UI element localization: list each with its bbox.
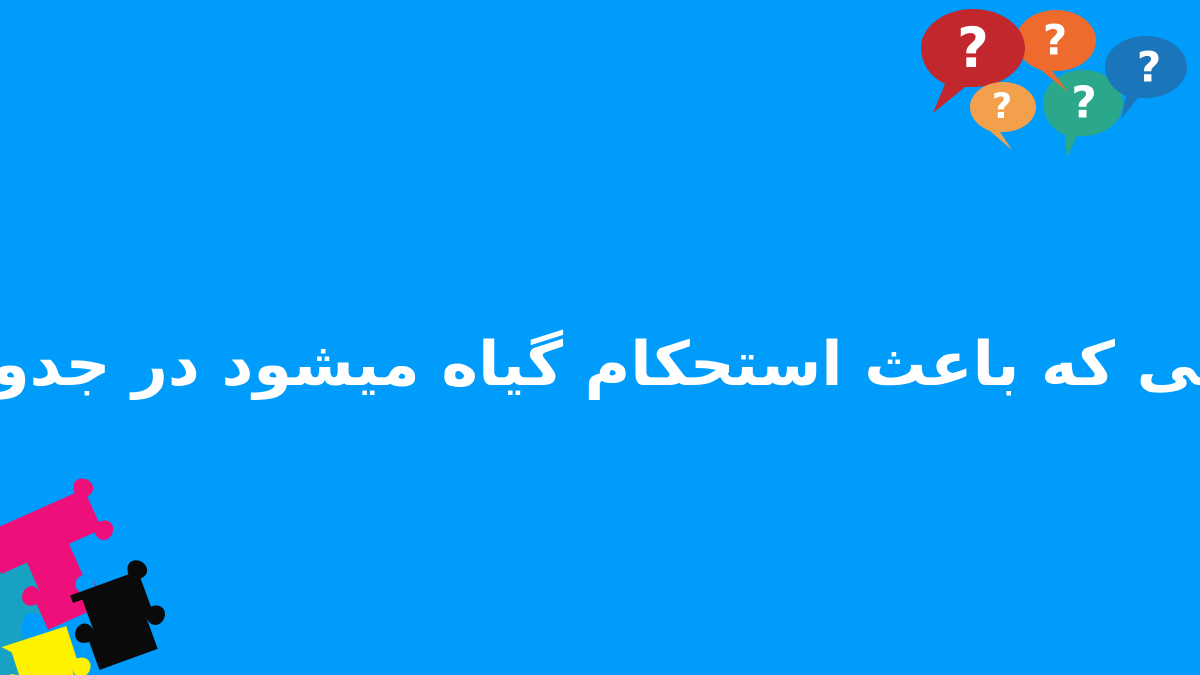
question-mark-glyph-blue: ? [1137,43,1161,92]
question-mark-glyph-orange: ? [1043,16,1067,65]
speech-bubble-peach: ? [970,82,1036,150]
headline-text: اهی که باعث استحکام گیاه میشود در جدول [0,329,1200,401]
question-mark-glyph-red: ? [957,16,989,80]
question-bubbles-graphic: ? ? ? ? ? [915,0,1200,172]
slide-canvas: ? ? ? ? ? [0,0,1200,675]
speech-bubble-orange: ? [1016,10,1096,92]
headline-banner: اهی که باعث استحکام گیاه میشود در جدول [0,300,1200,430]
puzzle-graphic [0,463,226,675]
question-mark-glyph-peach: ? [992,87,1012,127]
speech-bubble-blue: ? [1105,36,1187,119]
